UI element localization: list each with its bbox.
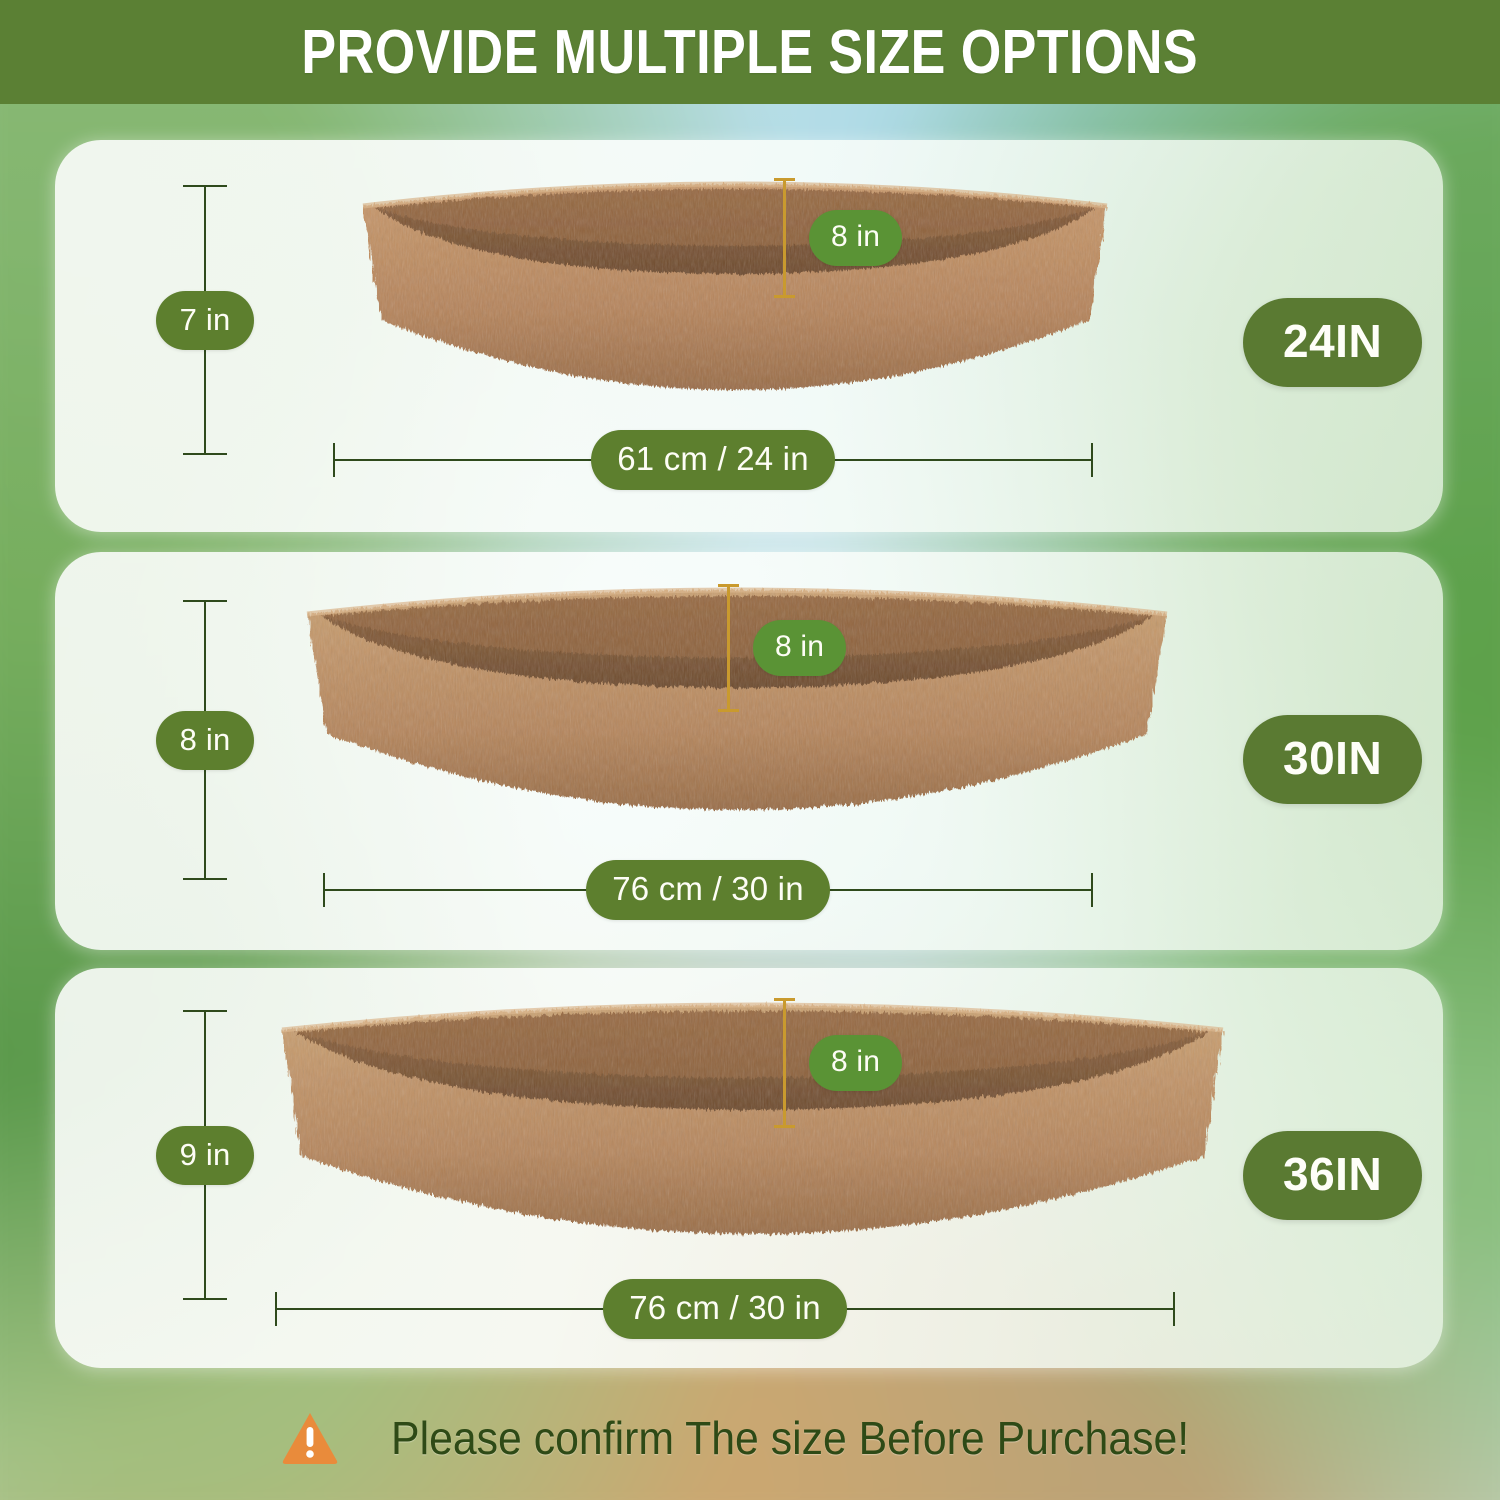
infographic-stage: PROVIDE MULTIPLE SIZE OPTIONS 7 in bbox=[0, 0, 1500, 1500]
width-dimension-24in: 61 cm / 24 in bbox=[333, 437, 1093, 483]
depth-line bbox=[727, 584, 730, 712]
depth-cap-bottom bbox=[718, 709, 739, 712]
header-banner: PROVIDE MULTIPLE SIZE OPTIONS bbox=[0, 0, 1500, 104]
size-card-30in: 8 in bbox=[55, 552, 1443, 950]
width-label: 61 cm / 24 in bbox=[591, 430, 835, 490]
width-dimension-36in: 76 cm / 30 in bbox=[275, 1286, 1175, 1332]
dimension-cap-left bbox=[333, 443, 335, 477]
size-card-36in: 9 in bbox=[55, 968, 1443, 1368]
page-title: PROVIDE MULTIPLE SIZE OPTIONS bbox=[302, 17, 1199, 88]
depth-dimension-36in: 8 in bbox=[783, 998, 902, 1128]
depth-dimension-30in: 8 in bbox=[727, 584, 846, 712]
depth-cap-bottom bbox=[774, 295, 795, 298]
purchase-warning: Please confirm The size Before Purchase! bbox=[0, 1398, 1500, 1478]
dimension-cap-right bbox=[1091, 873, 1093, 907]
dimension-cap-right bbox=[1173, 1292, 1175, 1326]
height-dimension-36in: 9 in bbox=[175, 1010, 235, 1300]
dimension-cap-bottom bbox=[183, 878, 227, 880]
dimension-cap-right bbox=[1091, 443, 1093, 477]
depth-label: 8 in bbox=[809, 210, 902, 266]
size-badge-24in: 24IN bbox=[1243, 298, 1422, 387]
basket-image-24in bbox=[345, 168, 1125, 448]
depth-cap-top bbox=[718, 584, 739, 587]
depth-cap-top bbox=[774, 998, 795, 1001]
warning-text: Please confirm The size Before Purchase! bbox=[391, 1411, 1189, 1465]
dimension-cap-top bbox=[183, 600, 227, 602]
height-dimension-30in: 8 in bbox=[175, 600, 235, 880]
depth-cap-top bbox=[774, 178, 795, 181]
dimension-cap-bottom bbox=[183, 453, 227, 455]
depth-label: 8 in bbox=[753, 620, 846, 676]
height-label: 8 in bbox=[156, 711, 255, 770]
depth-line bbox=[783, 998, 786, 1128]
width-dimension-30in: 76 cm / 30 in bbox=[323, 867, 1093, 913]
depth-dimension-24in: 8 in bbox=[783, 178, 902, 298]
size-badge-36in: 36IN bbox=[1243, 1131, 1422, 1220]
dimension-cap-left bbox=[275, 1292, 277, 1326]
depth-line bbox=[783, 178, 786, 298]
width-label: 76 cm / 30 in bbox=[586, 860, 830, 920]
width-label: 76 cm / 30 in bbox=[603, 1279, 847, 1339]
height-dimension-24in: 7 in bbox=[175, 185, 235, 455]
size-badge-30in: 30IN bbox=[1243, 715, 1422, 804]
size-card-24in: 7 in bbox=[55, 140, 1443, 532]
dimension-cap-top bbox=[183, 185, 227, 187]
warning-triangle-icon bbox=[281, 1411, 339, 1465]
dimension-cap-top bbox=[183, 1010, 227, 1012]
basket-image-36in bbox=[260, 988, 1245, 1300]
height-label: 7 in bbox=[156, 291, 255, 350]
dimension-cap-left bbox=[323, 873, 325, 907]
dimension-cap-bottom bbox=[183, 1298, 227, 1300]
height-label: 9 in bbox=[156, 1126, 255, 1185]
depth-cap-bottom bbox=[774, 1125, 795, 1128]
depth-label: 8 in bbox=[809, 1035, 902, 1091]
